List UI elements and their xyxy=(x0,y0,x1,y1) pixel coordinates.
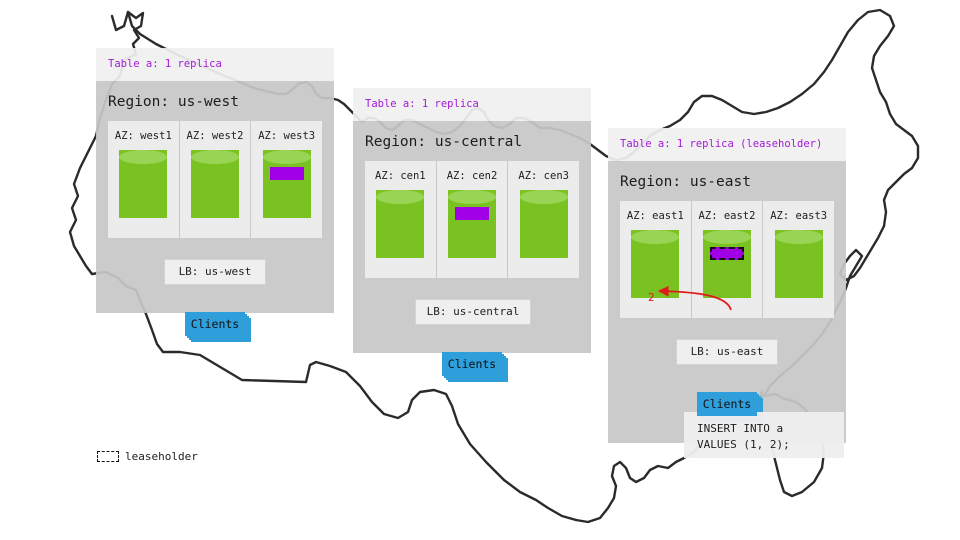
clients-stack-us-central[interactable]: Clients xyxy=(442,352,508,382)
panel-header-us-central: Table a: 1 replica xyxy=(353,88,591,121)
annotation-step-label: 2 xyxy=(648,292,655,304)
panel-body-us-central: Region: us-central AZ: cen1 AZ: cen2 xyxy=(353,121,591,353)
clients-label-us-west: Clients xyxy=(191,317,239,331)
node-cylinder-east2[interactable] xyxy=(703,230,751,298)
replica-marker-cen2[interactable] xyxy=(455,207,489,220)
legend: leaseholder xyxy=(97,450,198,463)
az-label-east1: AZ: east1 xyxy=(620,210,691,222)
az-label-east2: AZ: east2 xyxy=(692,210,763,222)
legend-label: leaseholder xyxy=(125,450,198,463)
clients-button-us-east[interactable]: Clients xyxy=(697,392,757,416)
az-label-west2: AZ: west2 xyxy=(180,130,251,142)
clients-label-us-east: Clients xyxy=(703,397,751,411)
node-cylinder-east3[interactable] xyxy=(775,230,823,298)
az-cell-west1[interactable]: AZ: west1 xyxy=(108,121,180,238)
node-cylinder-cen3[interactable] xyxy=(520,190,568,258)
panel-header-us-west: Table a: 1 replica xyxy=(96,48,334,81)
lb-label-us-east: LB: us-east xyxy=(691,345,764,358)
replica-marker-leaseholder-east2[interactable] xyxy=(710,247,744,260)
lb-label-us-west: LB: us-west xyxy=(179,265,252,278)
node-cylinder-cen2[interactable] xyxy=(448,190,496,258)
az-cell-cen3[interactable]: AZ: cen3 xyxy=(508,161,579,278)
az-row-us-west: AZ: west1 AZ: west2 xyxy=(108,121,322,238)
sql-statement-text: INSERT INTO a VALUES (1, 2); xyxy=(697,422,790,451)
panel-body-us-east: Region: us-east AZ: east1 AZ: east2 xyxy=(608,161,846,443)
az-label-cen2: AZ: cen2 xyxy=(437,170,508,182)
region-title-us-east: Region: us-east xyxy=(608,161,846,201)
region-panel-us-west: Table a: 1 replica Region: us-west AZ: w… xyxy=(96,48,334,313)
az-cell-east3[interactable]: AZ: east3 xyxy=(763,201,834,318)
panel-header-us-east: Table a: 1 replica (leaseholder) xyxy=(608,128,846,161)
panel-body-us-west: Region: us-west AZ: west1 AZ: west2 xyxy=(96,81,334,313)
node-cylinder-west1[interactable] xyxy=(119,150,167,218)
lb-box-us-west[interactable]: LB: us-west xyxy=(164,259,266,285)
az-cell-west3[interactable]: AZ: west3 xyxy=(251,121,322,238)
diagram-canvas: Table a: 1 replica Region: us-west AZ: w… xyxy=(0,0,960,540)
node-cylinder-cen1[interactable] xyxy=(376,190,424,258)
lb-box-us-east[interactable]: LB: us-east xyxy=(676,339,778,365)
region-panel-us-east: Table a: 1 replica (leaseholder) Region:… xyxy=(608,128,846,443)
sql-statement-box: INSERT INTO a VALUES (1, 2); xyxy=(684,412,844,458)
az-label-west1: AZ: west1 xyxy=(108,130,179,142)
replica-marker-west3[interactable] xyxy=(270,167,304,180)
region-panel-us-central: Table a: 1 replica Region: us-central AZ… xyxy=(353,88,591,353)
clients-button-us-west[interactable]: Clients xyxy=(185,312,245,336)
az-label-cen3: AZ: cen3 xyxy=(508,170,579,182)
clients-stack-us-west[interactable]: Clients xyxy=(185,312,251,342)
node-cylinder-east1[interactable] xyxy=(631,230,679,298)
az-label-cen1: AZ: cen1 xyxy=(365,170,436,182)
az-cell-west2[interactable]: AZ: west2 xyxy=(180,121,252,238)
lb-box-us-central[interactable]: LB: us-central xyxy=(415,299,531,325)
clients-label-us-central: Clients xyxy=(448,357,496,371)
region-title-us-west: Region: us-west xyxy=(96,81,334,121)
az-label-east3: AZ: east3 xyxy=(763,210,834,222)
az-cell-east2[interactable]: AZ: east2 xyxy=(692,201,764,318)
dashed-rect-icon xyxy=(97,451,119,462)
az-cell-cen2[interactable]: AZ: cen2 xyxy=(437,161,509,278)
az-label-west3: AZ: west3 xyxy=(251,130,322,142)
az-cell-cen1[interactable]: AZ: cen1 xyxy=(365,161,437,278)
node-cylinder-west3[interactable] xyxy=(263,150,311,218)
clients-button-us-central[interactable]: Clients xyxy=(442,352,502,376)
az-cell-east1[interactable]: AZ: east1 xyxy=(620,201,692,318)
region-title-us-central: Region: us-central xyxy=(353,121,591,161)
node-cylinder-west2[interactable] xyxy=(191,150,239,218)
az-row-us-central: AZ: cen1 AZ: cen2 xyxy=(365,161,579,278)
lb-label-us-central: LB: us-central xyxy=(427,305,520,318)
